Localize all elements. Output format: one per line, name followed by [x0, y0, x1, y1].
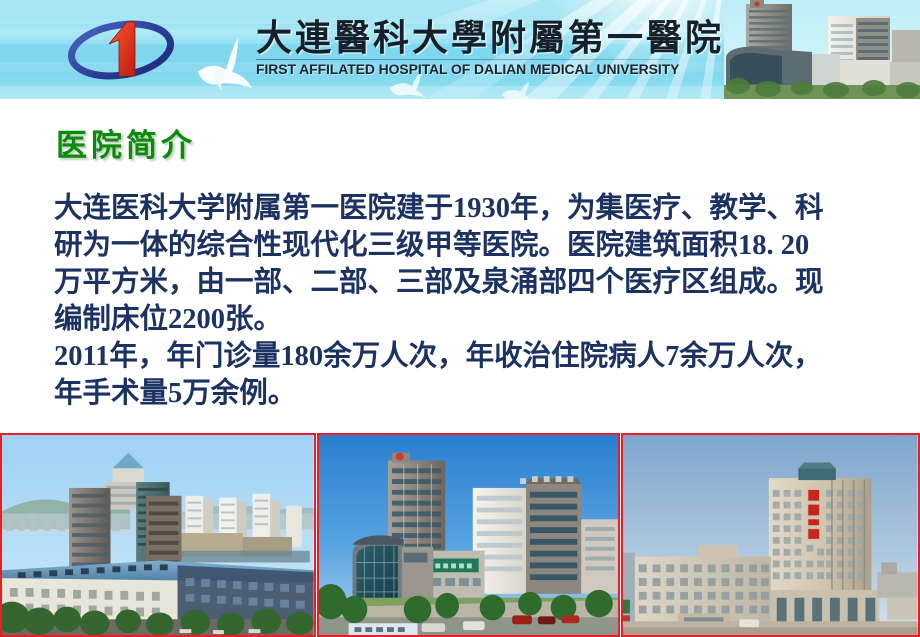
hospital-campus-two-exterior[interactable] [317, 433, 621, 637]
body-paragraph: 大连医科大学附属第一医院建于1930年，为集医疗、教学、科 研为一体的综合性现代… [54, 190, 884, 412]
header-banner: 大連醫科大學附屬第一醫院 FIRST AFFILATED HOSPITAL OF… [0, 0, 920, 99]
hospital-logo [57, 14, 185, 86]
photo-strip [0, 433, 920, 637]
hospital-name-cn: 大連醫科大學附屬第一醫院 [256, 18, 676, 58]
hospital-campus-one-aerial[interactable] [0, 433, 316, 637]
body-line: 2011年，年门诊量180余万人次，年收治住院病人7余万人次， [54, 338, 884, 375]
page-title: 医院简介 [56, 127, 196, 165]
hospital-campus-three-exterior[interactable] [621, 433, 920, 637]
hospital-buildings-photo [724, 0, 920, 99]
body-line: 年手术量5万余例。 [54, 375, 884, 412]
banner-text-block: 大連醫科大學附屬第一醫院 FIRST AFFILATED HOSPITAL OF… [256, 18, 676, 78]
dove-icon [500, 80, 534, 99]
hospital-name-en: FIRST AFFILATED HOSPITAL OF DALIAN MEDIC… [256, 62, 670, 78]
body-line: 研为一体的综合性现代化三级甲等医院。医院建筑面积18. 20 [54, 227, 884, 264]
slide-root: 大連醫科大學附屬第一醫院 FIRST AFFILATED HOSPITAL OF… [0, 0, 920, 637]
body-line: 万平方米，由一部、二部、三部及泉涌部四个医疗区组成。现 [54, 264, 884, 301]
body-line: 大连医科大学附属第一医院建于1930年，为集医疗、教学、科 [54, 190, 884, 227]
banner-divider [256, 59, 672, 60]
body-line: 编制床位2200张。 [54, 301, 884, 338]
dove-icon [192, 34, 256, 94]
